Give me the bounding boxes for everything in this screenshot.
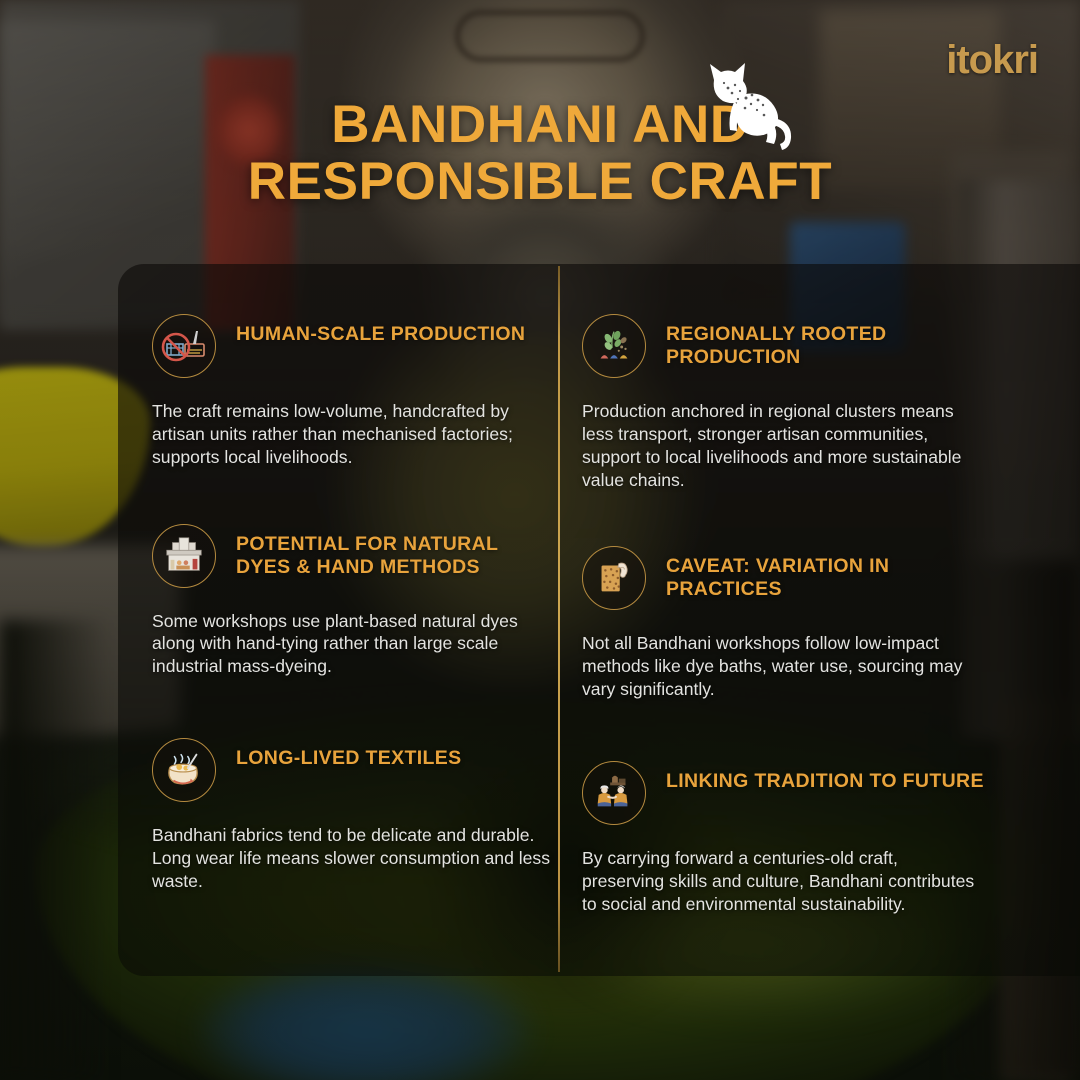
card-header: POTENTIAL FOR NATURAL DYES & HAND METHOD… — [152, 524, 572, 588]
card-body: Some workshops use plant-based natural d… — [152, 610, 552, 679]
card-title: LONG-LIVED TEXTILES — [236, 738, 462, 770]
plant-dye-powders-icon — [582, 314, 646, 378]
card-header: LINKING TRADITION TO FUTURE — [582, 761, 1002, 825]
card-body: By carrying forward a centuries-old craf… — [582, 847, 982, 916]
page-title-line-2: RESPONSIBLE CRAFT — [0, 153, 1080, 210]
card-header: HUMAN-SCALE PRODUCTION — [152, 314, 572, 378]
card-body: Production anchored in regional clusters… — [582, 400, 982, 491]
card-title: REGIONALLY ROOTED PRODUCTION — [666, 314, 996, 369]
two-artisans-icon — [582, 761, 646, 825]
card-header: REGIONALLY ROOTED PRODUCTION — [582, 314, 1002, 378]
card-title: LINKING TRADITION TO FUTURE — [666, 761, 984, 793]
brand-logo-text: itokri — [946, 38, 1038, 82]
steaming-dye-pot-icon — [152, 738, 216, 802]
left-column: HUMAN-SCALE PRODUCTION The craft remains… — [152, 264, 572, 893]
card-body: Not all Bandhani workshops follow low-im… — [582, 632, 982, 701]
card-title: CAVEAT: VARIATION IN PRACTICES — [666, 546, 996, 601]
card-header: LONG-LIVED TEXTILES — [152, 738, 572, 802]
hand-holding-fabric-icon — [582, 546, 646, 610]
card-title: HUMAN-SCALE PRODUCTION — [236, 314, 525, 346]
card-long-lived-textiles: LONG-LIVED TEXTILES Bandhani fabrics ten… — [152, 738, 572, 893]
card-natural-dyes-hand-methods: POTENTIAL FOR NATURAL DYES & HAND METHOD… — [152, 524, 572, 679]
workshop-building-icon — [152, 524, 216, 588]
card-caveat-variation-in-practices: CAVEAT: VARIATION IN PRACTICES Not all B… — [582, 546, 1002, 701]
card-regionally-rooted-production: REGIONALLY ROOTED PRODUCTION Production … — [582, 314, 1002, 491]
page-title-line-1: BANDHANI AND — [331, 95, 748, 154]
card-body: Bandhani fabrics tend to be delicate and… — [152, 824, 552, 893]
card-title: POTENTIAL FOR NATURAL DYES & HAND METHOD… — [236, 524, 536, 579]
card-linking-tradition-to-future: LINKING TRADITION TO FUTURE By carrying … — [582, 761, 1002, 916]
card-header: CAVEAT: VARIATION IN PRACTICES — [582, 546, 1002, 610]
page-title: BANDHANI AND RESPONSIBLE CRAFT — [0, 96, 1080, 210]
card-body: The craft remains low-volume, handcrafte… — [152, 400, 552, 469]
brand-logo[interactable]: itokri — [946, 40, 1038, 80]
card-human-scale-production: HUMAN-SCALE PRODUCTION The craft remains… — [152, 314, 572, 469]
header: itokri BANDHANI AND RESPONSIBLE CRAFT — [0, 0, 1080, 265]
no-factory-icon — [152, 314, 216, 378]
right-column: REGIONALLY ROOTED PRODUCTION Production … — [582, 264, 1002, 916]
